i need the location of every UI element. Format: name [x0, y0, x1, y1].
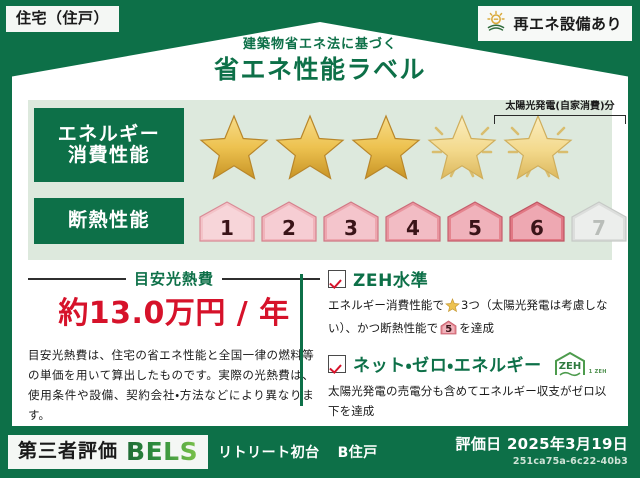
bels-jp-label: 第三者評価	[18, 442, 118, 461]
star-icon	[348, 108, 424, 182]
zeh-standard-check: ZEH水準 エネルギー消費性能で3つ（太陽光発電は考慮しない）、かつ断熱性能で5…	[328, 266, 612, 339]
evaluation-info: 評価日 2025年3月19日 251ca75a-6c22-40b3	[456, 437, 628, 467]
label-details: 目安光熱費 約13.0万円 / 年 目安光熱費は、住宅の省エネ性能と全国一律の燃…	[28, 266, 612, 414]
renewable-equipment-badge: 再エネ設備あり	[478, 6, 632, 41]
utility-cost-note: 目安光熱費は、住宅の省エネ性能と全国一律の燃料等の単価を用いて算出したものです。…	[28, 345, 320, 426]
insulation-performance-row: 断熱性能 1 2 3 4	[28, 196, 628, 246]
net-zero-energy-check: ネット・ゼロ・エネルギー ZEH 1 ZEH 太陽光発電の売電分も含めてエネルギ…	[328, 351, 612, 422]
star-icon	[445, 298, 460, 318]
energy-label-line1: エネルギー	[58, 124, 161, 145]
net-zero-title: ネット・ゼロ・エネルギー	[353, 351, 542, 376]
zeh-desc-part1: エネルギー消費性能で	[328, 298, 444, 312]
utility-cost-title: 目安光熱費	[134, 268, 214, 289]
performance-panel: エネルギー 消費性能	[28, 100, 612, 260]
housing-type-tag: 住宅（住戸）	[6, 6, 119, 32]
energy-performance-label: エネルギー 消費性能	[34, 108, 184, 182]
insulation-level-value: 3	[322, 218, 380, 238]
property-unit: B住戸	[338, 442, 378, 462]
utility-cost-value: 約13.0万円 / 年	[28, 299, 320, 329]
insulation-level-2: 2	[260, 199, 318, 243]
star-icon	[196, 108, 272, 182]
insulation-level-5: 5	[446, 199, 504, 243]
insulation-level-value: 7	[570, 218, 628, 238]
utility-cost-heading: 目安光熱費	[28, 268, 320, 289]
sun-icon	[485, 10, 507, 36]
column-divider	[300, 274, 303, 406]
insulation-level-value: 6	[508, 218, 566, 238]
bels-certification-mark: 第三者評価 BELS	[8, 435, 208, 469]
insulation-performance-label: 断熱性能	[34, 198, 184, 244]
zeh-house-logo: ZEH 1 ZEH	[553, 351, 607, 377]
insulation-level-value: 5	[446, 218, 504, 238]
star-icon	[272, 108, 348, 182]
insulation-level-value: 2	[260, 218, 318, 238]
zeh-standard-description: エネルギー消費性能で3つ（太陽光発電は考慮しない）、かつ断熱性能で5を達成	[328, 295, 612, 339]
evaluation-id: 251ca75a-6c22-40b3	[456, 457, 628, 467]
net-zero-head: ネット・ゼロ・エネルギー ZEH 1 ZEH	[328, 351, 612, 377]
insulation-level-6: 6	[508, 199, 566, 243]
heading-rule-right	[222, 278, 320, 280]
net-zero-description: 太陽光発電の売電分も含めてエネルギー収支がゼロ以下を達成	[328, 381, 612, 422]
solar-annotation-label: 太陽光発電(自家消費)分	[480, 102, 640, 112]
insulation-level-1: 1	[198, 199, 256, 243]
zeh-standard-head: ZEH水準	[328, 266, 612, 291]
title-main: 省エネ性能ラベル	[0, 57, 640, 82]
heading-rule-left	[28, 278, 126, 280]
insulation-level-value: 4	[384, 218, 442, 238]
label-title: 建築物省エネ法に基づく 省エネ性能ラベル	[0, 38, 640, 82]
property-name: リトリート初台	[218, 442, 320, 462]
insulation-badge-value: 5	[440, 325, 457, 335]
certification-checks: ZEH水準 エネルギー消費性能で3つ（太陽光発電は考慮しない）、かつ断熱性能で5…	[320, 266, 612, 414]
bels-en-label: BELS	[126, 439, 198, 464]
check-icon	[328, 355, 346, 373]
zeh-desc-part3: を達成	[459, 321, 494, 335]
energy-label-line2: 消費性能	[68, 145, 150, 166]
zeh-logo-subtext: 1 ZEH	[589, 369, 607, 377]
insulation-level-4: 4	[384, 199, 442, 243]
insulation-level-value: 1	[198, 218, 256, 238]
solar-generation-annotation: 太陽光発電(自家消費)分	[480, 102, 640, 124]
check-icon	[328, 270, 346, 288]
svg-text:ZEH: ZEH	[559, 361, 581, 372]
insulation-level-7: 7	[570, 199, 628, 243]
evaluation-date: 評価日 2025年3月19日	[456, 437, 628, 452]
label-footer: 第三者評価 BELS リトリート初台 B住戸 評価日 2025年3月19日 25…	[0, 426, 640, 478]
insulation-level-3: 3	[322, 199, 380, 243]
utility-cost-section: 目安光熱費 約13.0万円 / 年 目安光熱費は、住宅の省エネ性能と全国一律の燃…	[28, 266, 320, 414]
solar-bracket	[494, 115, 626, 124]
zeh-standard-title: ZEH水準	[353, 266, 428, 291]
insulation-level-badge: 5	[440, 320, 457, 335]
energy-performance-row: エネルギー 消費性能	[28, 108, 576, 182]
bels-energy-label: 住宅（住戸） 再エネ設備あり 建築物省エネ法に基づく 省エネ性能ラベル	[0, 0, 640, 478]
renewable-badge-label: 再エネ設備あり	[513, 13, 622, 34]
insulation-level-scale: 1 2 3 4 5	[198, 199, 628, 243]
